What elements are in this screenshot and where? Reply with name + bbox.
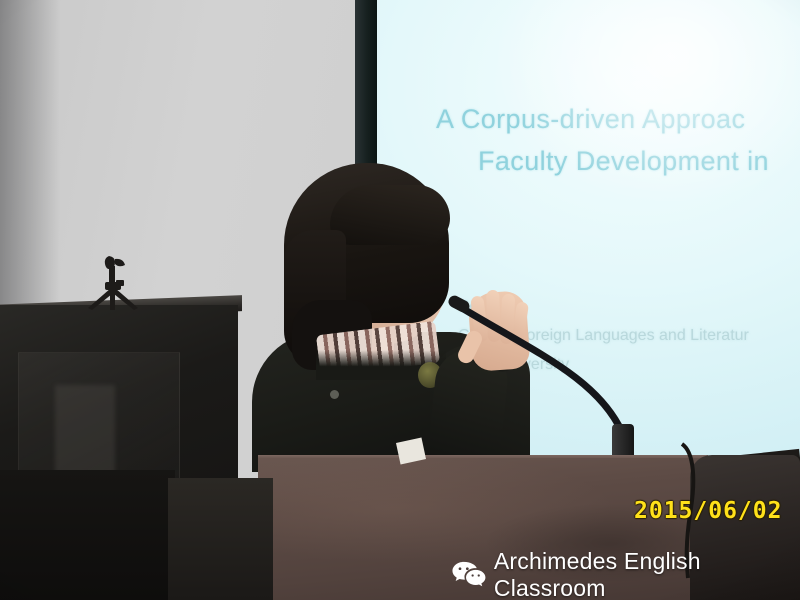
speaker-hair-fringe <box>330 185 450 245</box>
wechat-logo-icon <box>452 560 486 590</box>
camera-datestamp: 2015/06/02 <box>634 498 782 524</box>
watermark-label: Archimedes English Classroom <box>494 548 800 600</box>
foreground-dark-middle <box>168 478 273 600</box>
presentation-photo: A Corpus-driven Approac Faculty Developm… <box>0 0 800 600</box>
watermark: Archimedes English Classroom <box>452 548 800 600</box>
foreground-dark-left <box>0 470 175 600</box>
speaker-jacket-button <box>330 390 339 399</box>
